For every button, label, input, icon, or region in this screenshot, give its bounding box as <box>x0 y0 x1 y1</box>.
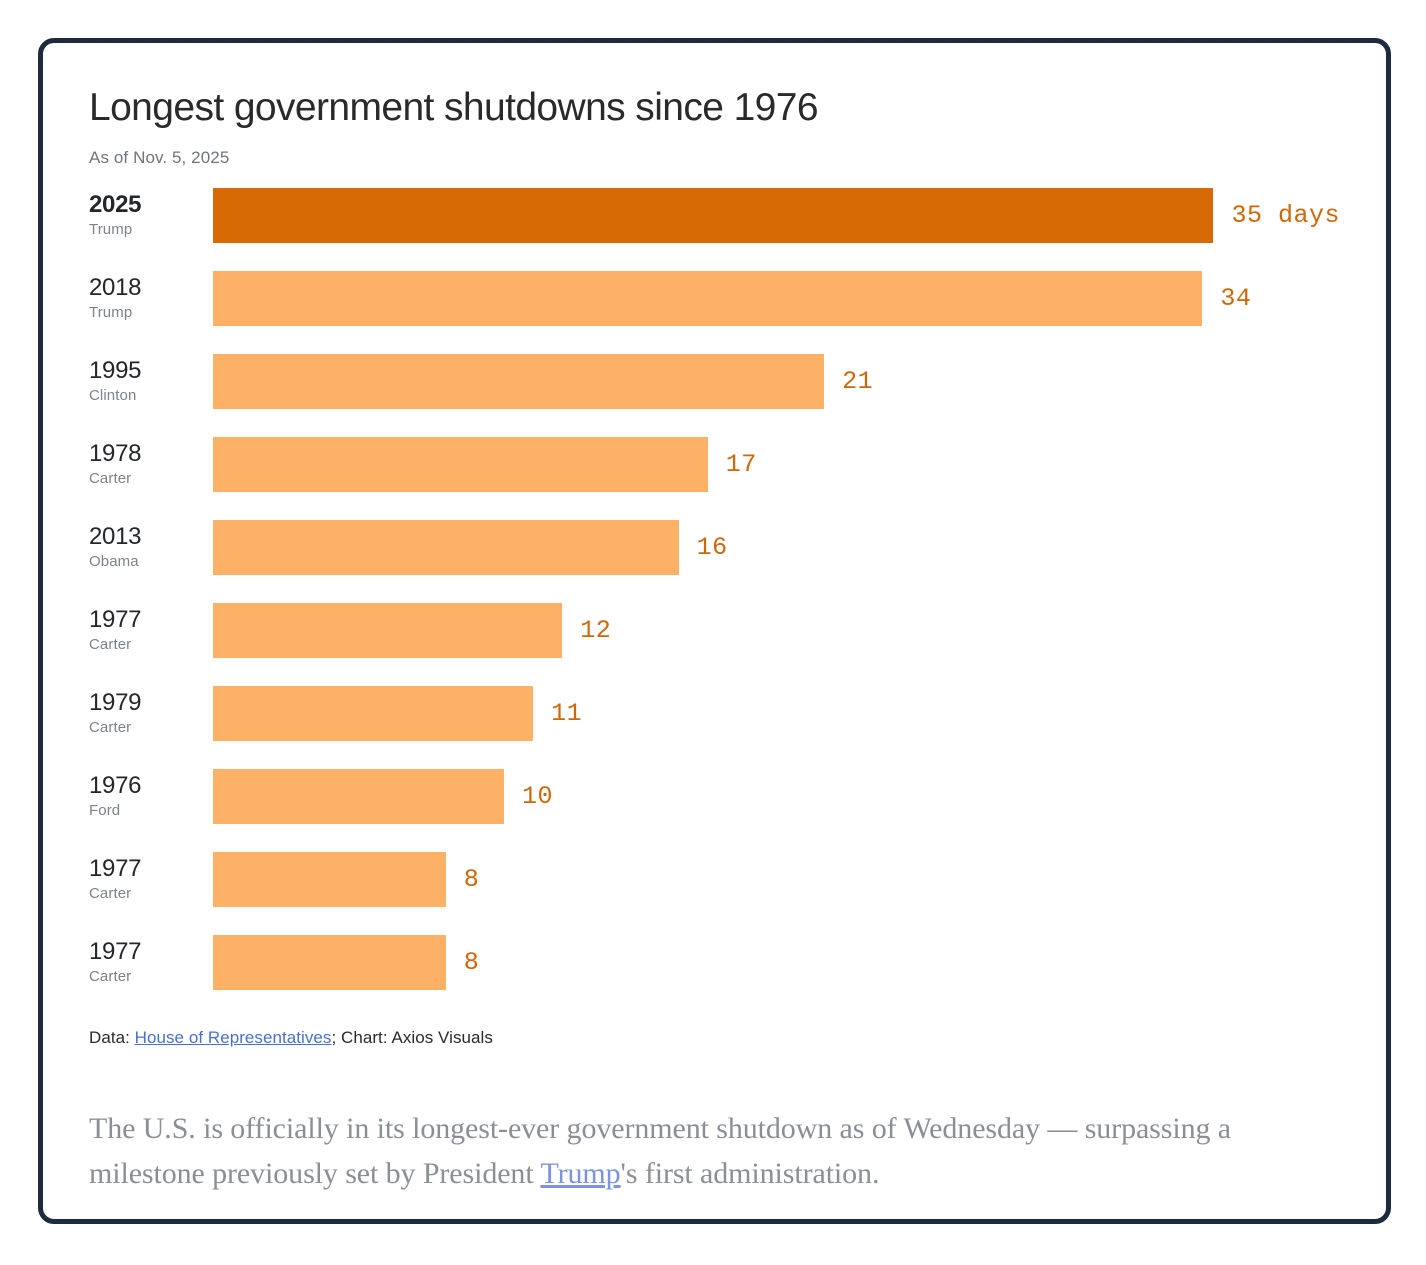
bar-row-president: Carter <box>89 469 213 489</box>
bar-value-label: 8 <box>464 852 480 907</box>
bar-row-year: 1978 <box>89 441 213 467</box>
bar-track: 16 <box>213 520 1340 575</box>
bar-row-year: 1976 <box>89 773 213 799</box>
bar-fill[interactable] <box>213 188 1213 243</box>
bar-row-labels: 1977Carter <box>89 603 213 658</box>
bar-row: 1977Carter8 <box>89 852 1340 935</box>
bar-track: 17 <box>213 437 1340 492</box>
bar-track: 8 <box>213 852 1340 907</box>
bar-track: 21 <box>213 354 1340 409</box>
bar-row-president: Ford <box>89 801 213 821</box>
bar-row-labels: 1977Carter <box>89 935 213 990</box>
source-link[interactable]: House of Representatives <box>135 1028 332 1047</box>
chart-source: Data: House of Representatives; Chart: A… <box>89 1028 1340 1048</box>
trump-link[interactable]: Trump <box>540 1157 620 1190</box>
bar-row-president: Carter <box>89 718 213 738</box>
bar-row: 1978Carter17 <box>89 437 1340 520</box>
bar-track: 8 <box>213 935 1340 990</box>
bar-row-year: 2018 <box>89 275 213 301</box>
bar-row-labels: 1979Carter <box>89 686 213 741</box>
bar-value-label: 16 <box>697 520 728 575</box>
bar-row-president: Trump <box>89 303 213 323</box>
bar-value-label: 34 <box>1220 271 1251 326</box>
bar-row-president: Carter <box>89 884 213 904</box>
bar-row: 1995Clinton21 <box>89 354 1340 437</box>
bar-row-president: Clinton <box>89 386 213 406</box>
bar-fill[interactable] <box>213 603 562 658</box>
bar-row-labels: 1995Clinton <box>89 354 213 409</box>
bar-row: 1979Carter11 <box>89 686 1340 769</box>
bar-row-president: Trump <box>89 220 213 240</box>
bar-row-president: Carter <box>89 635 213 655</box>
bar-chart-rows: 2025Trump35 days2018Trump341995Clinton21… <box>89 188 1340 1018</box>
bar-fill[interactable] <box>213 935 446 990</box>
bar-value-label: 21 <box>842 354 873 409</box>
chart-container: Longest government shutdowns since 1976 … <box>43 43 1386 1048</box>
article-body: The U.S. is officially in its longest-ev… <box>43 1048 1386 1197</box>
bar-row-labels: 2013Obama <box>89 520 213 575</box>
bar-fill[interactable] <box>213 852 446 907</box>
bar-fill[interactable] <box>213 520 679 575</box>
source-prefix: Data: <box>89 1028 135 1047</box>
bar-row-year: 2025 <box>89 192 213 218</box>
bar-row-labels: 1978Carter <box>89 437 213 492</box>
bar-row: 1977Carter8 <box>89 935 1340 1018</box>
bar-value-label: 12 <box>580 603 611 658</box>
bar-row: 2018Trump34 <box>89 271 1340 354</box>
bar-row-labels: 1977Carter <box>89 852 213 907</box>
bar-row-president: Obama <box>89 552 213 572</box>
bar-row-president: Carter <box>89 967 213 987</box>
bar-row: 2025Trump35 days <box>89 188 1340 271</box>
chart-title: Longest government shutdowns since 1976 <box>89 87 1340 130</box>
bar-row: 1976Ford10 <box>89 769 1340 852</box>
bar-row-year: 1977 <box>89 856 213 882</box>
bar-value-label: 8 <box>464 935 480 990</box>
bar-fill[interactable] <box>213 769 504 824</box>
bar-row-year: 1995 <box>89 358 213 384</box>
bar-row-year: 1977 <box>89 607 213 633</box>
bar-fill[interactable] <box>213 354 824 409</box>
bar-value-label: 17 <box>726 437 757 492</box>
source-suffix: ; Chart: Axios Visuals <box>331 1028 492 1047</box>
chart-subtitle: As of Nov. 5, 2025 <box>89 148 1340 168</box>
bar-row-labels: 2025Trump <box>89 188 213 243</box>
bar-fill[interactable] <box>213 686 533 741</box>
bar-row-year: 2013 <box>89 524 213 550</box>
bar-value-label: 35 days <box>1231 188 1340 243</box>
bar-row: 2013Obama16 <box>89 520 1340 603</box>
bar-track: 35 days <box>213 188 1340 243</box>
bar-fill[interactable] <box>213 437 708 492</box>
bar-row: 1977Carter12 <box>89 603 1340 686</box>
bar-value-label: 11 <box>551 686 582 741</box>
bar-track: 34 <box>213 271 1340 326</box>
body-text-part2: 's first administration. <box>621 1157 880 1190</box>
bar-track: 11 <box>213 686 1340 741</box>
body-paragraph: The U.S. is officially in its longest-ev… <box>89 1106 1340 1197</box>
bar-row-year: 1979 <box>89 690 213 716</box>
bar-fill[interactable] <box>213 271 1202 326</box>
bar-row-year: 1977 <box>89 939 213 965</box>
bar-row-labels: 2018Trump <box>89 271 213 326</box>
bar-track: 12 <box>213 603 1340 658</box>
article-card: Longest government shutdowns since 1976 … <box>38 38 1391 1224</box>
bar-track: 10 <box>213 769 1340 824</box>
bar-value-label: 10 <box>522 769 553 824</box>
bar-row-labels: 1976Ford <box>89 769 213 824</box>
